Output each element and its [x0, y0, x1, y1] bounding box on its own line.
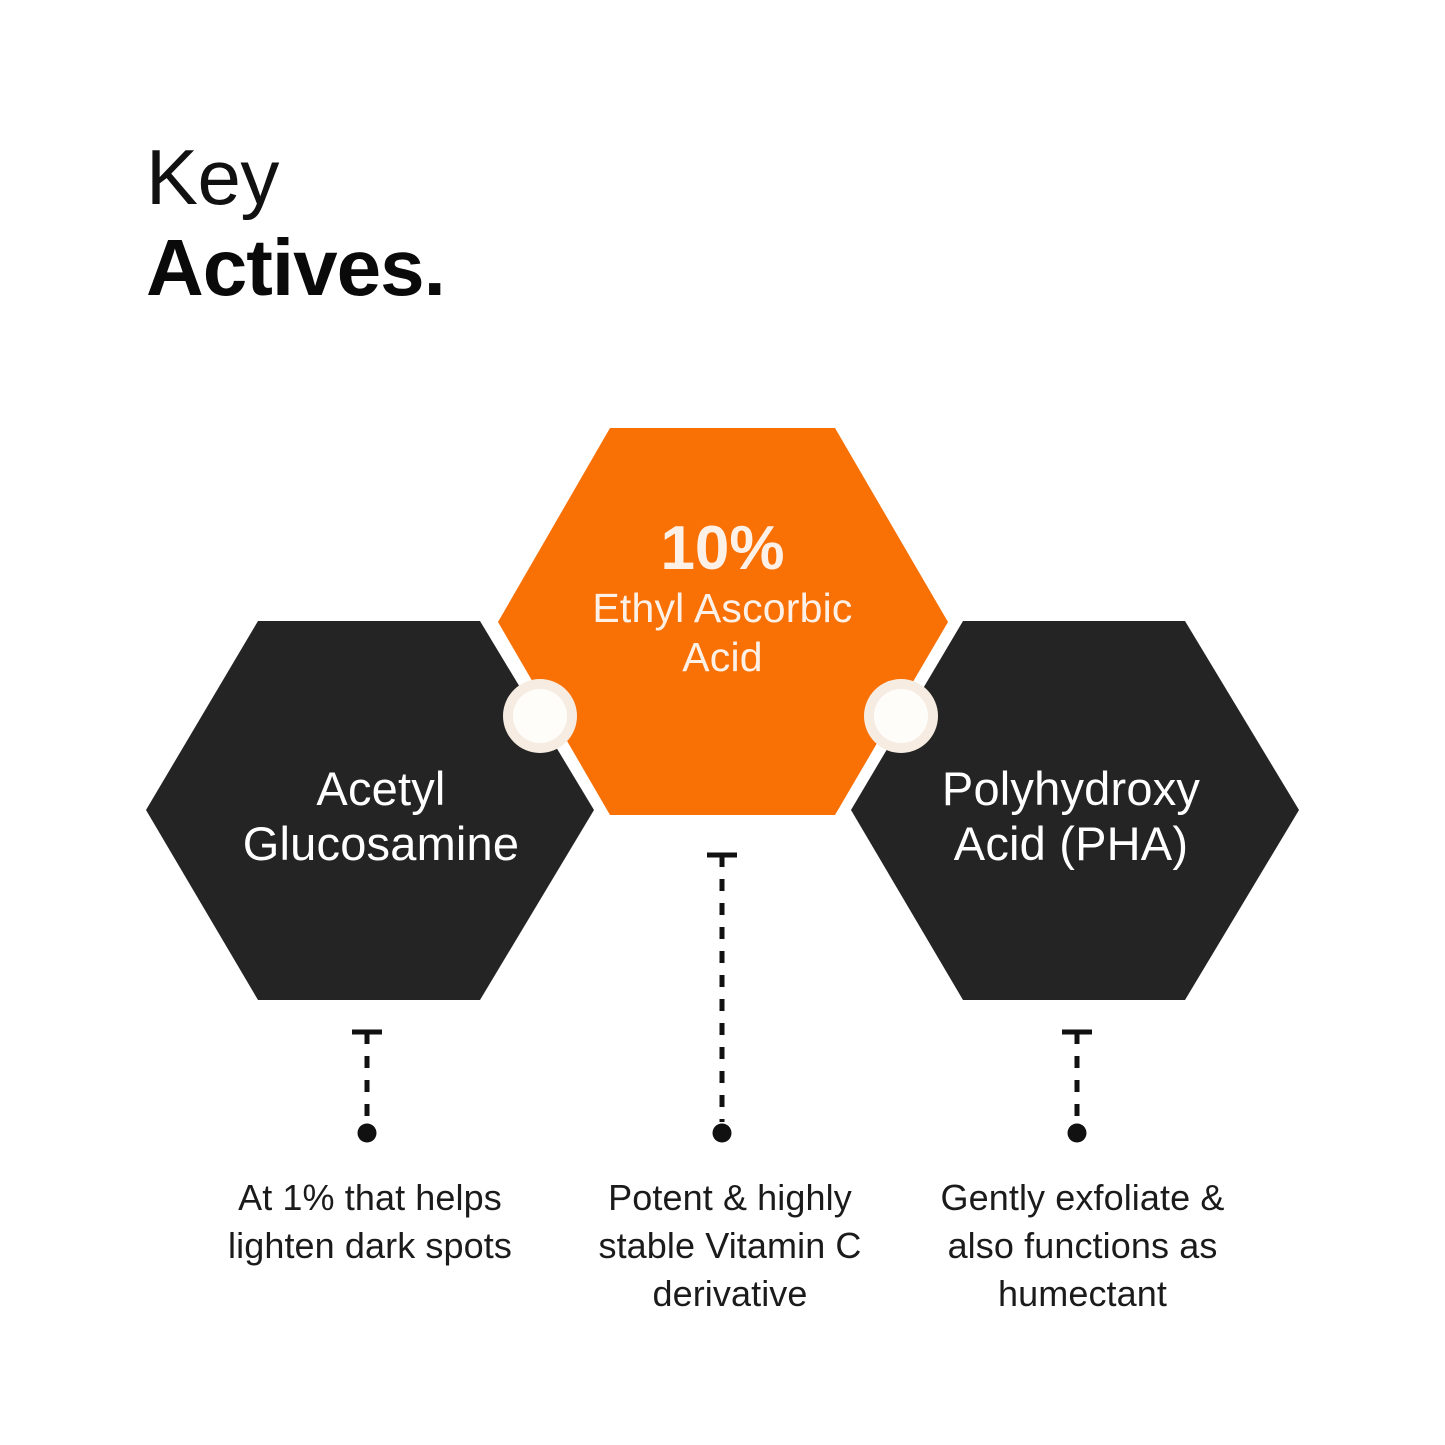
leader-line-left — [352, 1032, 382, 1143]
leader-line-right — [1062, 1032, 1092, 1143]
connector-right — [864, 679, 938, 753]
caption-acetyl-glucosamine: At 1% that helps lighten dark spots — [195, 1174, 545, 1270]
caption-polyhydroxy-acid: Gently exfoliate & also functions as hum… — [910, 1174, 1255, 1319]
infographic-root: Key Actives. — [0, 0, 1445, 1445]
connector-left — [503, 679, 577, 753]
hexagon-acetyl-glucosamine[interactable] — [146, 621, 594, 1000]
hexagon-ethyl-ascorbic-acid[interactable] — [498, 428, 948, 815]
caption-ethyl-ascorbic-acid: Potent & highly stable Vitamin C derivat… — [565, 1174, 895, 1319]
hexagon-polyhydroxy-acid[interactable] — [851, 621, 1299, 1000]
leader-line-center — [707, 855, 737, 1143]
